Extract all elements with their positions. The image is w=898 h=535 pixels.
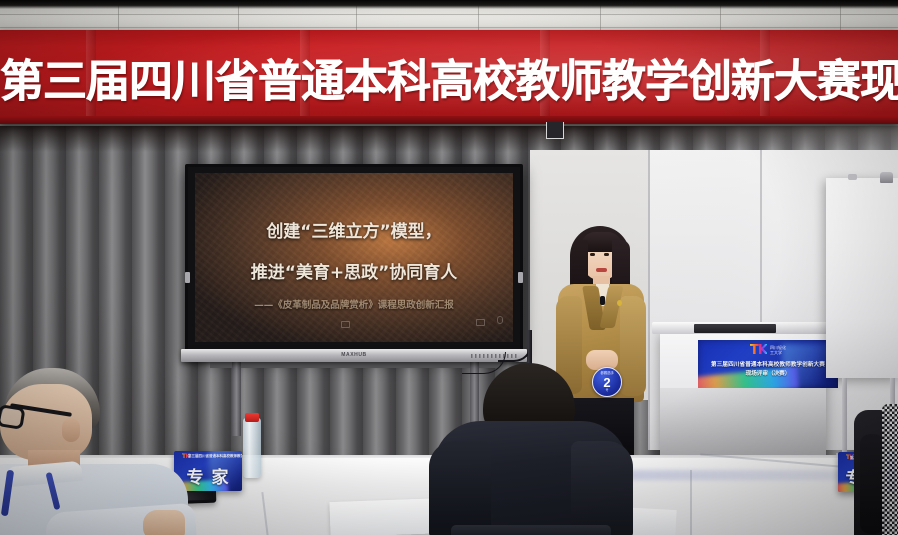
lectern-banner-line2: 现场评审（决赛）: [698, 369, 838, 377]
lectern-logo: TK 四川轻化 工大学: [750, 343, 786, 358]
judge-shoulder-right: [571, 441, 633, 535]
slide-ui-button-icon[interactable]: [341, 321, 350, 328]
interactive-smart-board[interactable]: 创建“三维立方”模型， 推进“美育+思政”协同育人 ——《皮革制品及品牌赏析》课…: [185, 164, 523, 356]
board-side-button-left[interactable]: [185, 272, 190, 283]
lectern-shadow: [660, 388, 826, 460]
person-right-arm: [860, 434, 884, 534]
presenter-eye-left: [590, 253, 595, 256]
board-screen[interactable]: 创建“三维立方”模型， 推进“美育+思政”协同育人 ——《皮革制品及品牌赏析》课…: [195, 173, 513, 342]
person-right-patterned-garment: [882, 404, 898, 535]
lectern-banner-line1: 第三届四川省普通本科高校教师教学创新大赛: [698, 360, 838, 368]
person-right-edge: [854, 404, 898, 535]
board-brand-logo: MAXHUB: [341, 352, 367, 358]
slide-pen-icon[interactable]: [497, 316, 503, 324]
presenter-eye-right: [604, 253, 609, 256]
judge-shoulder-left: [429, 441, 491, 535]
presenter-mouth: [596, 268, 607, 272]
tk-logo-icon: TK: [750, 343, 767, 358]
lapel-microphone-icon: [600, 296, 605, 305]
flipchart-clip[interactable]: [880, 172, 893, 183]
judge-hand: [143, 510, 185, 535]
slide-content: 创建“三维立方”模型， 推进“美育+思政”协同育人 ——《皮革制品及品牌赏析》课…: [195, 217, 513, 311]
ceiling-shadow: [0, 0, 898, 9]
lectern-logo-sub: 四川轻化 工大学: [770, 346, 786, 355]
lectern-screen-inset: [694, 324, 776, 333]
board-stand-leg: [232, 356, 241, 436]
lectern-banner: TK 四川轻化 工大学 第三届四川省普通本科高校教师教学创新大赛 现场评审（决赛…: [698, 340, 838, 388]
event-banner: 第三届四川省普通本科高校教师教学创新大赛现场评审（决赛）: [0, 30, 898, 123]
event-banner-text: 第三届四川省普通本科高校教师教学创新大赛现场评审（决赛）: [0, 45, 898, 109]
slide-subtitle: ——《皮革制品及品牌赏析》课程思政创新汇报: [195, 297, 513, 311]
judge-ear: [62, 418, 80, 442]
slide-title-line2: 推进“美育+思政”协同育人: [195, 258, 513, 283]
bottle-cap: [245, 413, 259, 422]
flipchart-board: [826, 178, 898, 378]
board-side-button-right[interactable]: [518, 272, 523, 283]
flipchart-clip[interactable]: [848, 174, 857, 180]
chair-back: [451, 525, 611, 535]
lapel-pin-icon: [617, 300, 622, 306]
ceiling-projector-box: [546, 122, 564, 139]
desk-seam: [690, 470, 692, 535]
slide-title-line1: 创建“三维立方”模型，: [195, 217, 513, 242]
seated-judge-left: [0, 368, 188, 535]
glasses-lens-icon: [0, 404, 26, 430]
venue-photo: 第三届四川省普通本科高校教师教学创新大赛现场评审（决赛） 创建“三维立方”模型，…: [0, 0, 898, 535]
slide-settings-icon[interactable]: [476, 319, 485, 326]
water-bottle: 怡宝 纯净水: [243, 418, 261, 478]
banner-bottom-edge: [0, 116, 898, 124]
seated-judge-center: [425, 363, 635, 535]
